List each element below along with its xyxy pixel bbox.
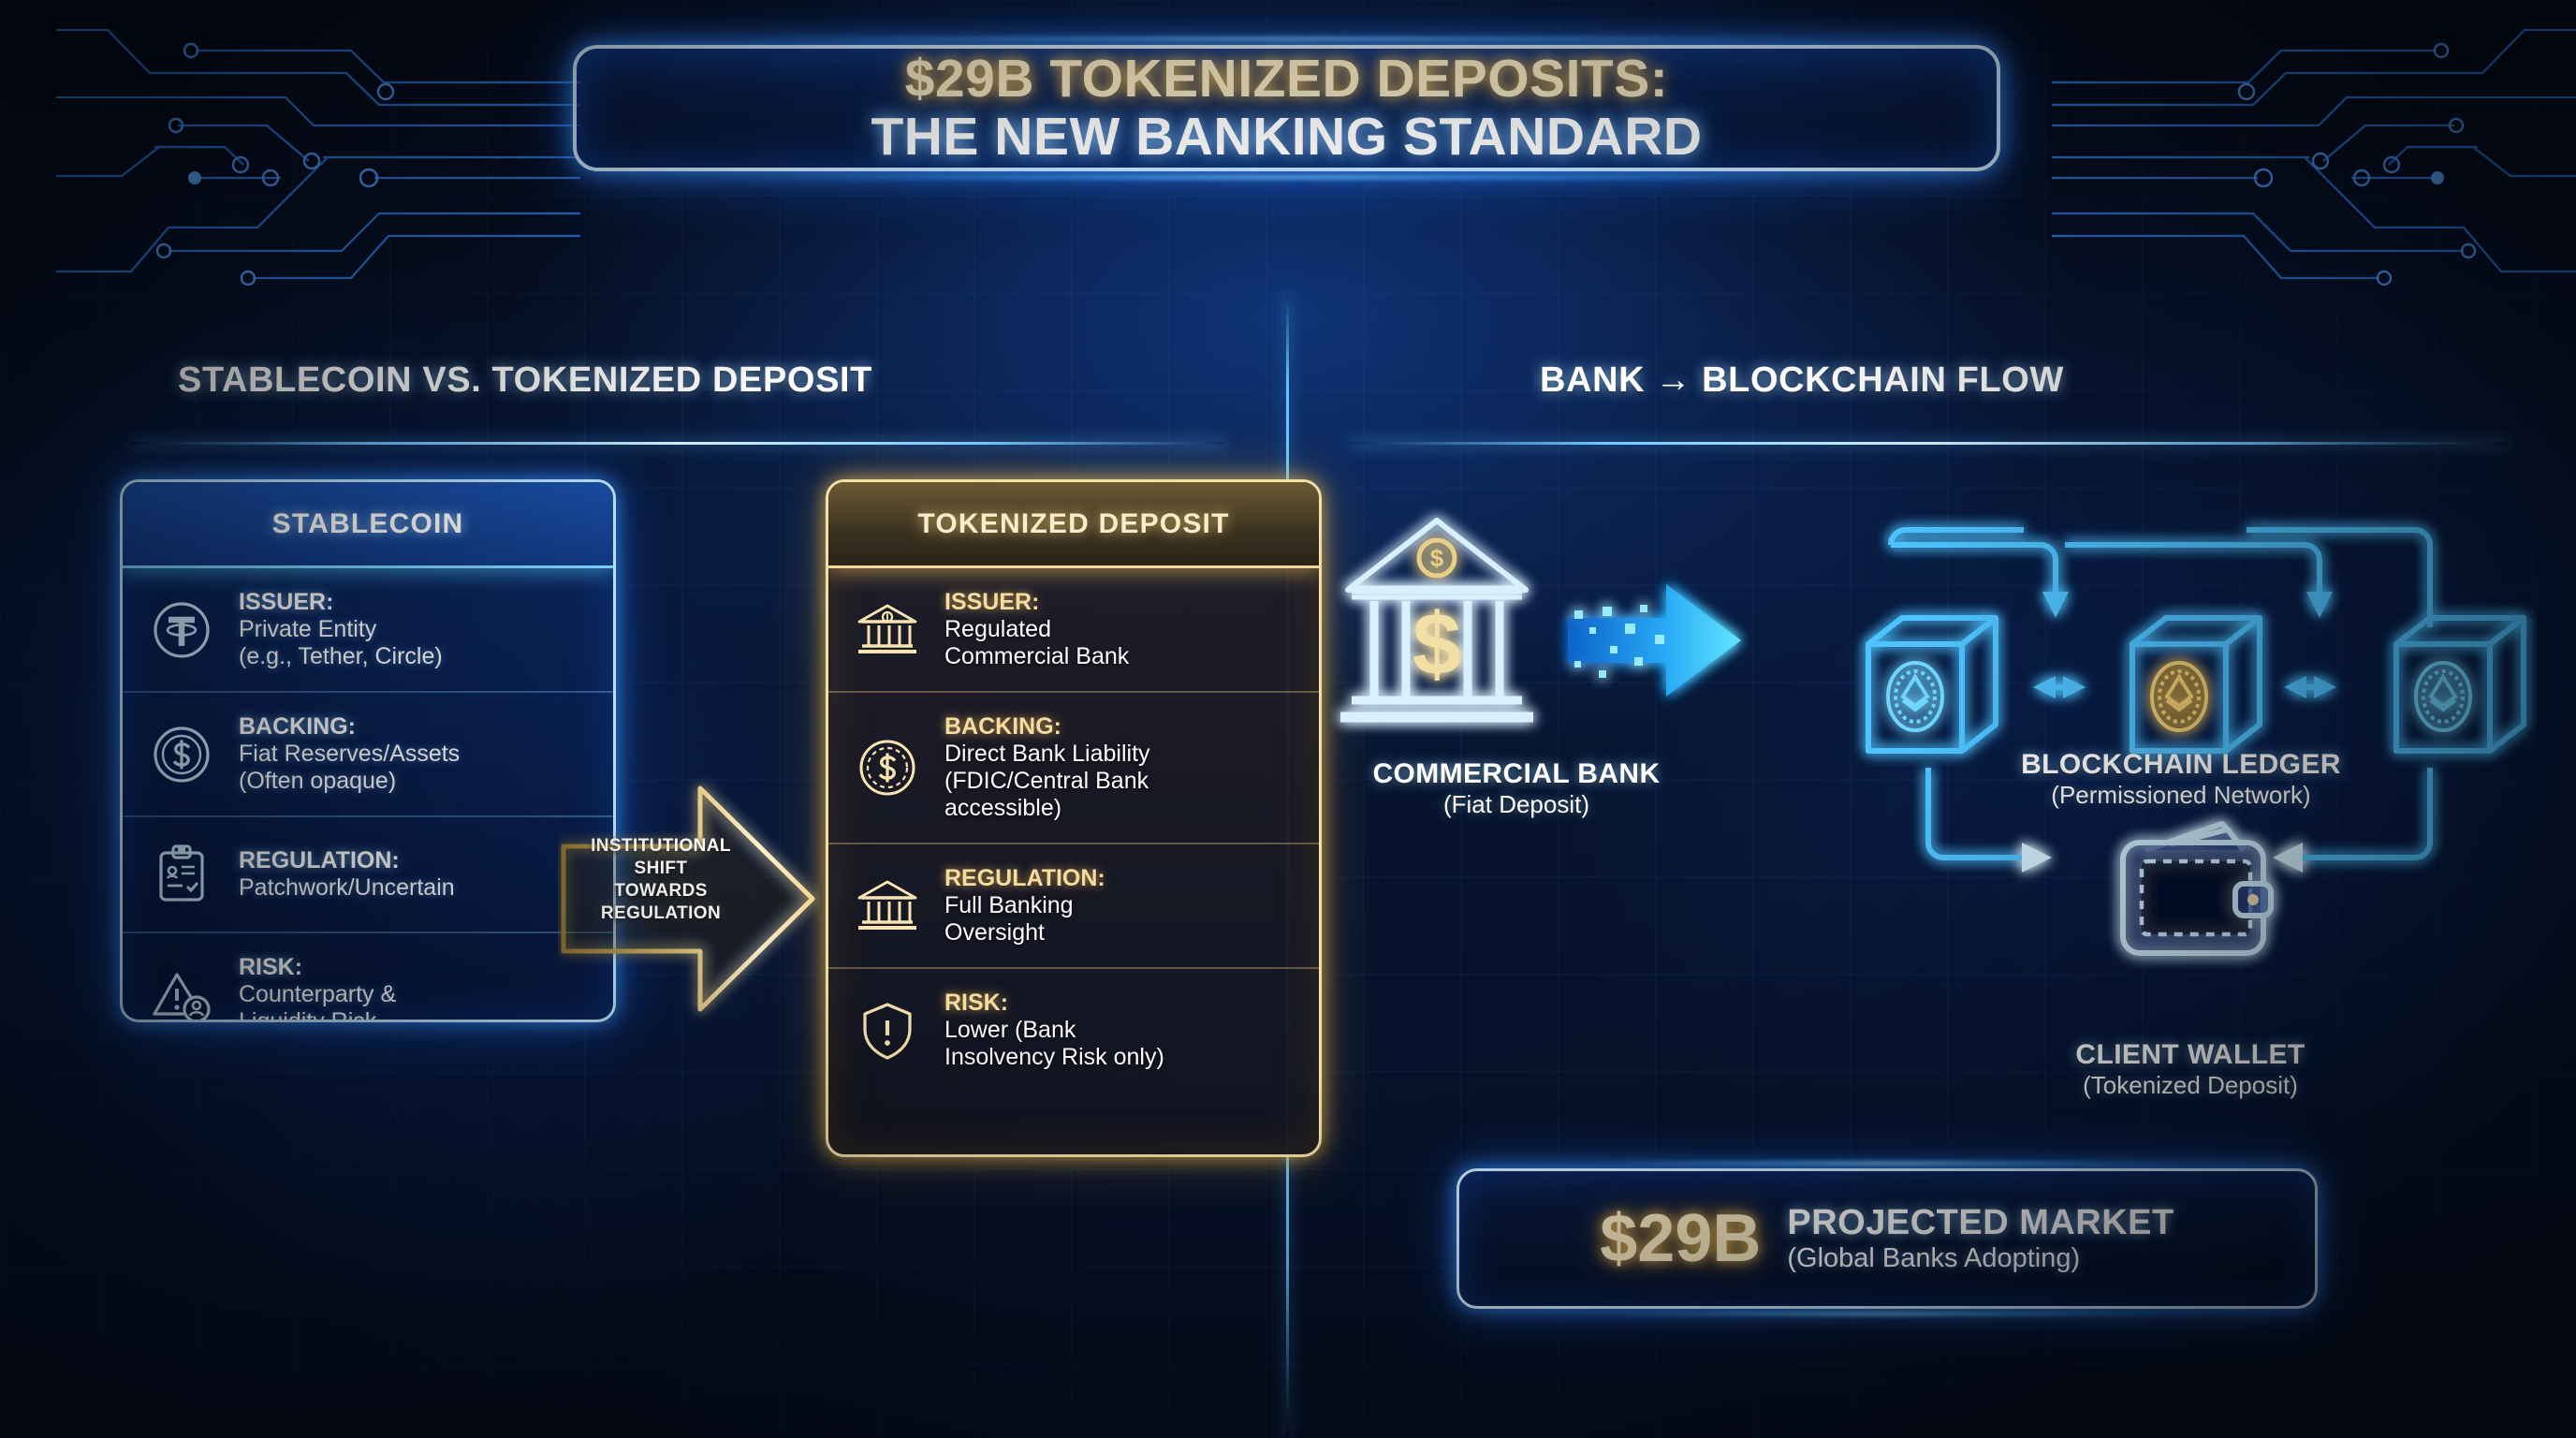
circuit-node-icon <box>188 171 201 184</box>
flow-caption-sub: (Permissioned Network) <box>1807 781 2555 810</box>
svg-text:$: $ <box>1430 544 1444 572</box>
table-row: BACKING: Fiat Reserves/Assets(Often opaq… <box>123 691 613 815</box>
section-heading-flow: BANK → BLOCKCHAIN FLOW <box>1540 360 2064 401</box>
shift-arrow-label: INSTITUTIONALSHIFTTOWARDSREGULATION <box>567 835 754 925</box>
wallet-icon <box>2123 824 2271 953</box>
stablecoin-card-body: ISSUER: Private Entity(e.g., Tether, Cir… <box>123 568 613 1022</box>
stat-sub-label: (Global Banks Adopting) <box>1787 1243 2173 1274</box>
stat-value: $29B <box>1600 1200 1761 1277</box>
flow-caption-wallet: CLIENT WALLET (Tokenized Deposit) <box>1928 1039 2452 1100</box>
dollar-coin-icon <box>145 718 218 791</box>
bank-building-icon <box>851 870 924 943</box>
row-value: Full BankingOversight <box>944 892 1105 946</box>
tokenized-card-body: ISSUER: RegulatedCommercial Bank BACKING… <box>828 568 1319 1092</box>
row-label: ISSUER: <box>944 589 1129 616</box>
row-text: BACKING: Fiat Reserves/Assets(Often opaq… <box>239 713 460 795</box>
row-label: RISK: <box>239 954 396 981</box>
row-text: REGULATION: Patchwork/Uncertain <box>239 847 455 902</box>
circuit-traces-right-icon <box>2052 0 2576 309</box>
table-row: RISK: Counterparty &Liquidity Risk <box>123 932 613 1022</box>
stat-main-label: PROJECTED MARKET <box>1787 1203 2173 1243</box>
row-label: BACKING: <box>239 713 460 741</box>
section-heading-comparison: STABLECOIN VS. TOKENIZED DEPOSIT <box>178 360 872 401</box>
row-label: BACKING: <box>944 713 1150 741</box>
table-row: RISK: Lower (BankInsolvency Risk only) <box>828 967 1319 1092</box>
flow-caption-sub: (Tokenized Deposit) <box>1928 1071 2452 1100</box>
bank-building-icon <box>851 594 924 667</box>
row-label: RISK: <box>944 990 1164 1017</box>
blockchain-cubes-icon <box>1868 618 2524 751</box>
tokenized-deposit-card: TOKENIZED DEPOSIT ISSUER: R <box>826 479 1322 1157</box>
row-value: Direct Bank Liability(FDIC/Central Banka… <box>944 741 1150 822</box>
table-row: REGULATION: Full BankingOversight <box>828 843 1319 967</box>
row-value: Fiat Reserves/Assets(Often opaque) <box>239 741 460 795</box>
section-rule-left <box>131 442 1226 445</box>
row-text: ISSUER: Private Entity(e.g., Tether, Cir… <box>239 589 443 670</box>
row-text: RISK: Counterparty &Liquidity Risk <box>239 954 396 1022</box>
bank-building-icon: $ $ <box>1340 521 1533 717</box>
circuit-node-icon <box>2431 171 2444 184</box>
projected-market-stat-box: $29B PROJECTED MARKET (Global Banks Adop… <box>1456 1168 2318 1309</box>
row-text: RISK: Lower (BankInsolvency Risk only) <box>944 990 1164 1071</box>
row-value: Private Entity(e.g., Tether, Circle) <box>239 616 443 670</box>
row-text: REGULATION: Full BankingOversight <box>944 865 1105 946</box>
row-label: REGULATION: <box>239 847 455 874</box>
table-row: ISSUER: RegulatedCommercial Bank <box>828 568 1319 691</box>
flow-caption-ledger: BLOCKCHAIN LEDGER (Permissioned Network) <box>1807 749 2555 810</box>
infographic-canvas: $29B TOKENIZED DEPOSITS: THE NEW BANKING… <box>0 0 2576 1438</box>
title-line-2: THE NEW BANKING STANDARD <box>871 110 1702 164</box>
table-row: REGULATION: Patchwork/Uncertain <box>123 815 613 932</box>
dollar-coin-icon <box>851 731 924 804</box>
digital-arrow-icon <box>1568 584 1741 697</box>
flow-caption-sub: (Fiat Deposit) <box>1339 790 1694 819</box>
row-value: Counterparty &Liquidity Risk <box>239 981 396 1022</box>
clipboard-check-icon <box>145 838 218 911</box>
flow-caption-main: CLIENT WALLET <box>1928 1039 2452 1071</box>
warning-triangle-user-icon <box>145 959 218 1023</box>
svg-text:$: $ <box>1412 594 1461 693</box>
row-text: ISSUER: RegulatedCommercial Bank <box>944 589 1129 670</box>
tether-coin-icon <box>145 594 218 667</box>
table-row: BACKING: Direct Bank Liability(FDIC/Cent… <box>828 691 1319 843</box>
row-value: Lower (BankInsolvency Risk only) <box>944 1017 1164 1071</box>
flow-caption-main: BLOCKCHAIN LEDGER <box>1807 749 2555 781</box>
circuit-traces-left-icon <box>56 0 580 309</box>
row-value: Patchwork/Uncertain <box>239 874 455 902</box>
table-row: ISSUER: Private Entity(e.g., Tether, Cir… <box>123 568 613 691</box>
flow-caption-bank: COMMERCIAL BANK (Fiat Deposit) <box>1339 758 1694 819</box>
stablecoin-card-header: STABLECOIN <box>123 482 613 568</box>
row-label: ISSUER: <box>239 589 443 616</box>
title-line-1: $29B TOKENIZED DEPOSITS: <box>905 52 1668 106</box>
tokenized-card-header: TOKENIZED DEPOSIT <box>828 482 1319 568</box>
row-value: RegulatedCommercial Bank <box>944 616 1129 670</box>
stablecoin-card: STABLECOIN ISSUER: Private Entity(e.g., … <box>120 479 616 1022</box>
page-title: $29B TOKENIZED DEPOSITS: THE NEW BANKING… <box>573 45 2000 171</box>
row-label: REGULATION: <box>944 865 1105 892</box>
flow-caption-main: COMMERCIAL BANK <box>1339 758 1694 790</box>
section-rule-right <box>1348 442 2509 445</box>
shield-alert-icon <box>851 994 924 1067</box>
stat-text: PROJECTED MARKET (Global Banks Adopting) <box>1787 1203 2173 1274</box>
row-text: BACKING: Direct Bank Liability(FDIC/Cent… <box>944 713 1150 822</box>
